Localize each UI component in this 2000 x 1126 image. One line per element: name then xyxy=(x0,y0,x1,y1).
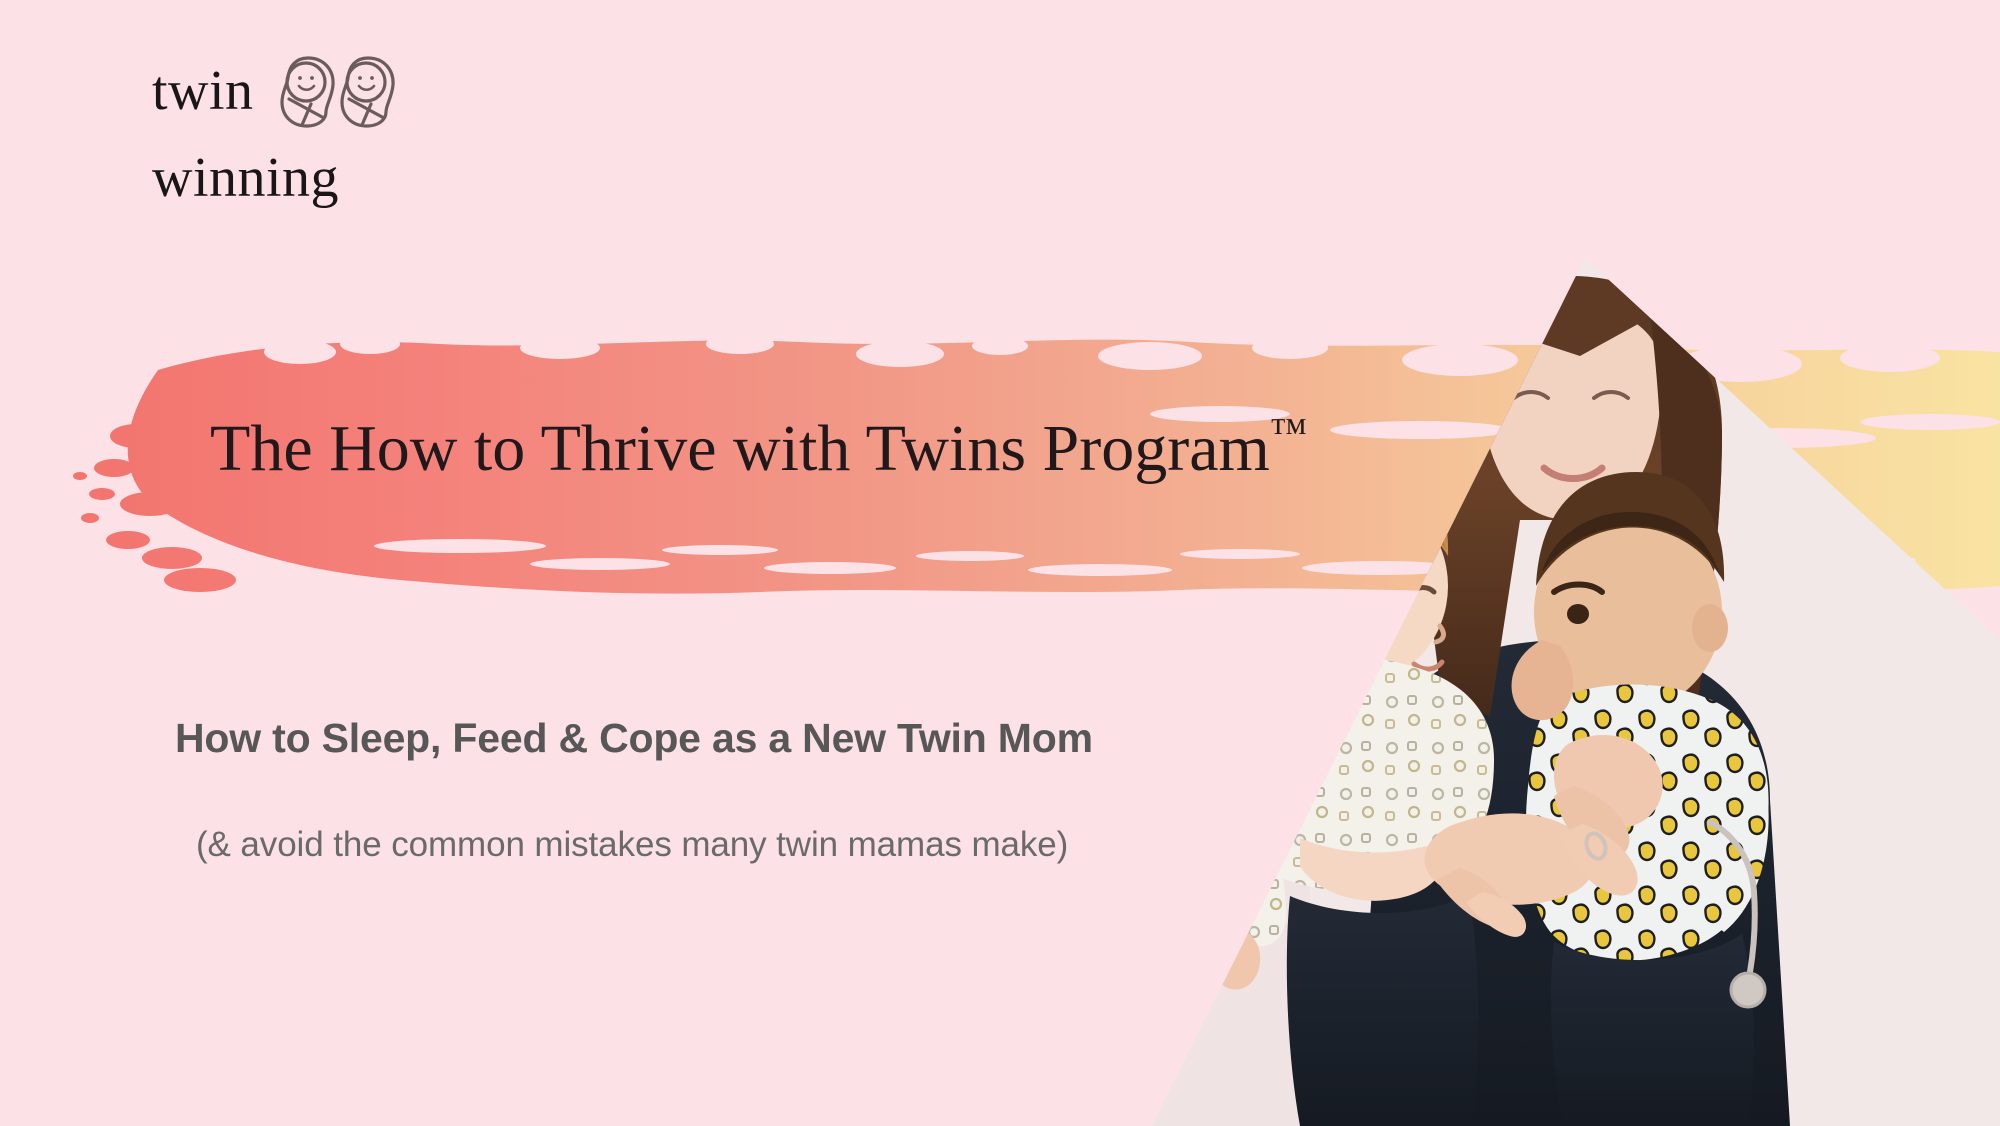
logo-text-line1: twin xyxy=(152,63,254,119)
logo-top-row: twin xyxy=(152,52,396,130)
brand-logo[interactable]: twin xyxy=(152,52,396,206)
mother-holding-twin-babies-photo xyxy=(1150,0,2000,1126)
logo-text-line2: winning xyxy=(152,150,396,206)
twin-swaddled-babies-icon xyxy=(276,52,396,130)
page-title-text: The How to Thrive with Twins Program xyxy=(210,412,1270,485)
tagline: (& avoid the common mistakes many twin m… xyxy=(196,825,1068,865)
subtitle: How to Sleep, Feed & Cope as a New Twin … xyxy=(175,715,1093,762)
slide-canvas: twin xyxy=(0,0,2000,1126)
page-title: The How to Thrive with Twins Program™ xyxy=(210,413,1307,482)
